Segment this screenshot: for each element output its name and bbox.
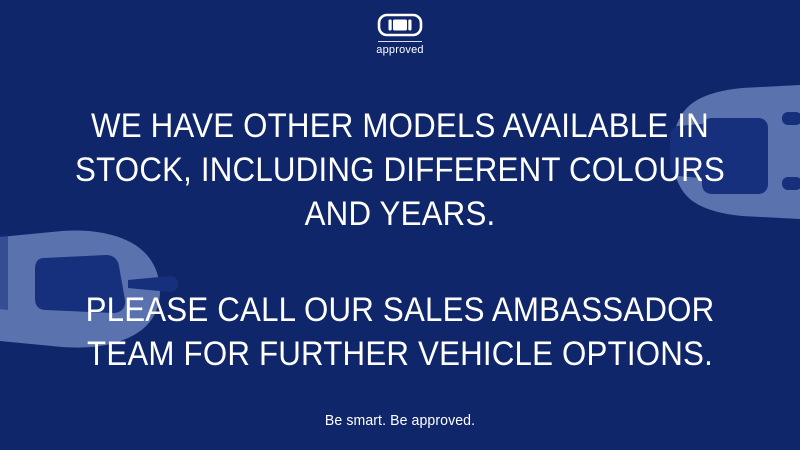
brand-lockup: approved: [0, 12, 800, 56]
car-top-view-icon: [377, 12, 423, 38]
brand-wordmark: approved: [376, 45, 423, 56]
headline-primary: WE HAVE OTHER MODELS AVAILABLE IN STOCK,…: [32, 104, 768, 236]
headline-secondary: PLEASE CALL OUR SALES AMBASSADOR TEAM FO…: [32, 288, 768, 376]
brand-divider-rule: [378, 41, 422, 42]
approved-notice-slide: approved WE HAVE OTHER MODELS AVAILABLE …: [0, 0, 800, 450]
brand-tagline: Be smart. Be approved.: [24, 376, 776, 430]
message-block: WE HAVE OTHER MODELS AVAILABLE IN STOCK,…: [0, 104, 800, 430]
